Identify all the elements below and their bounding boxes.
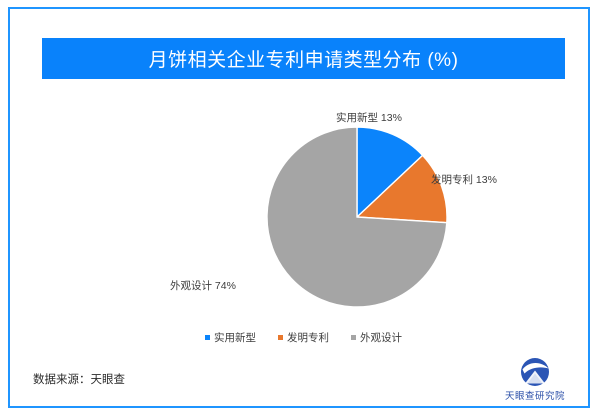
page-title: 月饼相关企业专利申请类型分布 (%) [149,45,459,72]
brand-logo-label: 天眼查研究院 [497,388,573,402]
legend-swatch-icon [278,335,283,340]
legend-item-invention-patent[interactable]: 发明专利 [278,330,329,345]
pie-svg [266,126,448,308]
pie-label-utility-model: 实用新型 13% [336,112,402,125]
legend-swatch-icon [205,335,210,340]
tianyancha-eye-icon [518,357,552,387]
data-source-note: 数据来源：天眼查 [33,371,125,387]
legend-item-design-patent[interactable]: 外观设计 [351,330,402,345]
legend-item-utility-model[interactable]: 实用新型 [205,330,256,345]
legend-label-design-patent: 外观设计 [360,330,402,345]
pie-chart: 实用新型 13% 发明专利 13% 外观设计 74% 实用新型 发明专利 外观设… [42,90,565,350]
legend-swatch-icon [351,335,356,340]
pie-label-invention-patent: 发明专利 13% [431,174,497,187]
infographic-poster: 月饼相关企业专利申请类型分布 (%) 实用新型 13% 发明专利 13% 外观设… [0,0,600,416]
chart-title-banner: 月饼相关企业专利申请类型分布 (%) [42,38,565,79]
pie-graphic [266,126,448,308]
brand-logo: 天眼查研究院 [497,357,573,403]
pie-label-design-patent: 外观设计 74% [170,280,236,293]
chart-legend: 实用新型 发明专利 外观设计 [42,330,565,345]
legend-label-invention-patent: 发明专利 [287,330,329,345]
legend-label-utility-model: 实用新型 [214,330,256,345]
